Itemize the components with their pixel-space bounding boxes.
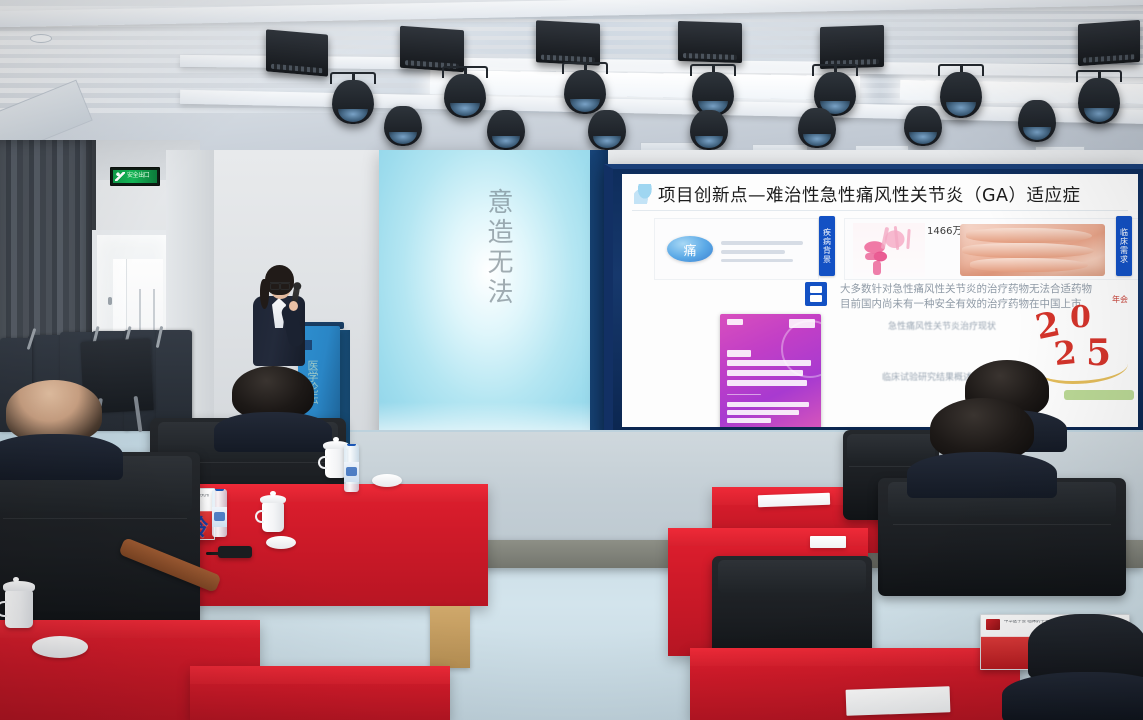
stage-light-icon (820, 25, 884, 69)
phone (218, 546, 252, 558)
saucer-dish (372, 474, 402, 487)
running-man-icon (115, 172, 125, 181)
water-bottle (344, 444, 359, 492)
audience-member (1028, 614, 1143, 720)
stage-par-light-icon (444, 74, 486, 118)
stage-par-light-icon (332, 80, 374, 124)
slide-card-stats: 1466万人 (844, 218, 1138, 280)
table-row (190, 666, 450, 720)
placard-logo-icon (986, 619, 1000, 630)
stage-par-light-icon (384, 106, 422, 146)
stage-par-light-icon (798, 108, 836, 148)
stage-par-light-icon (487, 110, 525, 150)
joint-illustration (853, 223, 925, 277)
conference-hall-photo: 安全出口 意造无法 项目创新点—难治性急性痛风性关节炎（GA）适应症 痛 (0, 0, 1143, 720)
stage-par-light-icon (1018, 100, 1056, 142)
slide-blurred-line-2: 临床试验研究结果概述 (882, 370, 972, 383)
stage-par-light-icon (588, 110, 626, 150)
eyeglasses-icon (270, 282, 290, 287)
slide-logo-icon (634, 184, 652, 204)
stage-par-light-icon (564, 70, 606, 114)
stage-par-light-icon (690, 110, 728, 150)
saucer-dish (266, 536, 296, 549)
audience-member (232, 366, 314, 452)
stage-light-icon (536, 20, 600, 65)
teacup (262, 502, 284, 532)
door-handle-icon[interactable] (108, 297, 112, 305)
year-graphic-caption: 年会 (1112, 294, 1128, 305)
note-paper (846, 686, 951, 716)
slide-vertical-tag-2: 临床需求 (1116, 216, 1132, 276)
led-display-frame: 项目创新点—难治性急性痛风性关节炎（GA）适应症 痛 疾病背景 1466万人 (604, 164, 1143, 436)
stage-par-light-icon (1078, 78, 1120, 124)
slide-card-disease: 痛 (654, 218, 819, 280)
slide-divider (632, 210, 1128, 211)
note-paper (810, 536, 846, 548)
slide-title: 项目创新点—难治性急性痛风性关节炎（GA）适应症 (658, 182, 1132, 207)
booklet (430, 606, 470, 668)
teacup (5, 590, 33, 628)
emergency-exit-sign: 安全出口 (110, 167, 160, 186)
water-bottle (212, 489, 227, 537)
note-paper (758, 493, 830, 508)
stage-par-light-icon (904, 106, 942, 146)
stacked-chair (156, 330, 192, 431)
pain-badge: 痛 (667, 236, 713, 262)
slide-vertical-tag-1: 疾病背景 (819, 216, 835, 276)
presentation-slide: 项目创新点—难治性急性痛风性关节炎（GA）适应症 痛 疾病背景 1466万人 (622, 174, 1138, 427)
audience-member (930, 398, 1034, 498)
projection-screen: 意造无法 (379, 150, 590, 440)
conference-poster (720, 314, 821, 427)
document-icon (805, 282, 827, 306)
stage-light-icon (266, 29, 328, 76)
stage-light-icon (678, 21, 742, 63)
saucer-dish (32, 636, 88, 658)
ceiling-recessed-light-icon (30, 34, 52, 43)
slide-blurred-line-1: 急性痛风性关节炎治疗现状 (888, 319, 996, 332)
stage-par-light-icon (940, 72, 982, 118)
gout-hand-photo (960, 224, 1105, 276)
exit-sign-label: 安全出口 (127, 172, 149, 181)
audience-member (6, 380, 102, 480)
stage-light-icon (1078, 20, 1140, 66)
calligraphy-text: 意造无法 (475, 188, 515, 308)
